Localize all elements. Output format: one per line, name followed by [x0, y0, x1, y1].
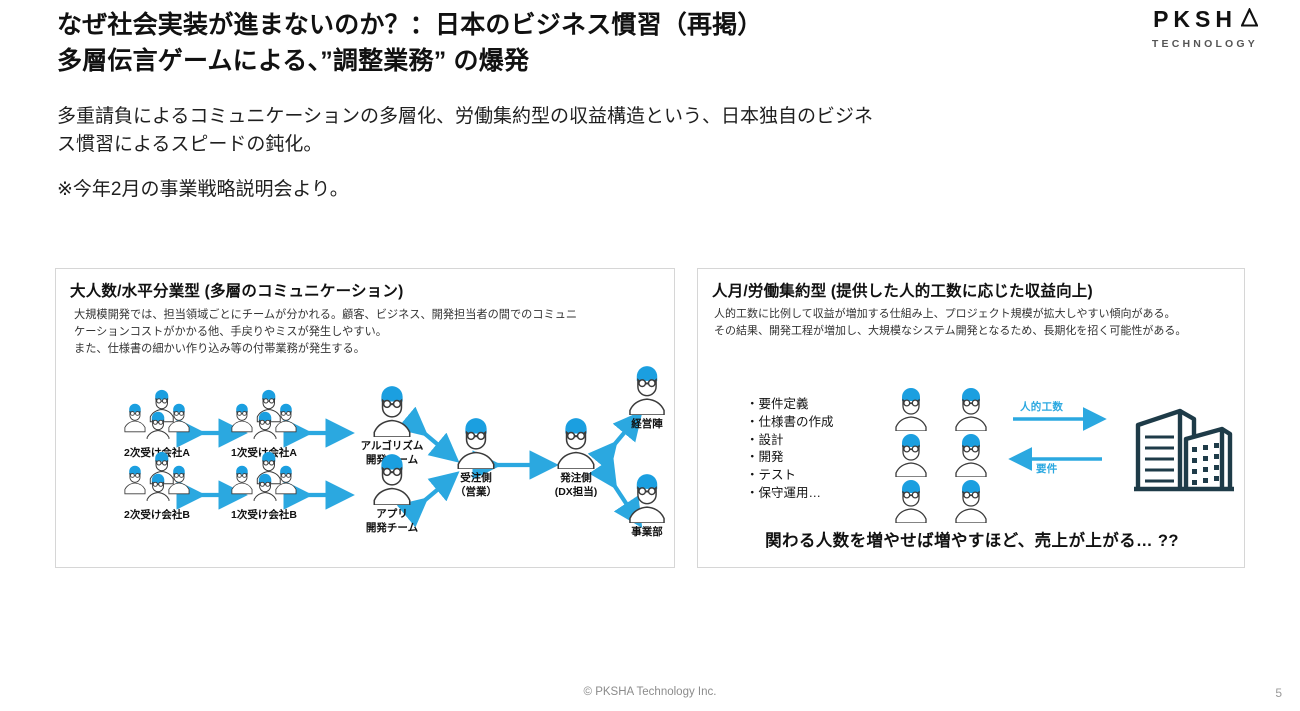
node-label: 経営陣	[616, 418, 678, 432]
person-icon	[367, 453, 417, 505]
person-icon	[888, 479, 934, 523]
node-business-unit: 事業部	[616, 473, 678, 540]
node-label: アプリ 開発チーム	[356, 508, 428, 535]
person-icon	[948, 479, 994, 523]
person-icon	[888, 433, 934, 477]
node-label: 2次受け会社B	[114, 509, 200, 523]
node-client-dx: 発注側 (DX担当)	[536, 417, 616, 499]
logo-wordmark-text: PKSH	[1153, 8, 1237, 31]
left-diagram: 2次受け会社A 1次受け会社A	[56, 269, 676, 569]
node-2nd-vendor-a: 2次受け会社A	[114, 389, 200, 461]
panel-horizontal-division: 大人数/水平分業型 (多層のコミュニケーション) 大規模開発では、担当領域ごとに…	[55, 268, 675, 568]
person-icon	[948, 387, 994, 431]
person-icon	[367, 385, 417, 437]
process-step-list: ・要件定義 ・仕様書の作成 ・設計 ・開発 ・テスト ・保守運用…	[746, 396, 834, 503]
person-icon	[888, 387, 934, 431]
node-2nd-vendor-b: 2次受け会社B	[114, 451, 200, 523]
node-app-team: アプリ 開発チーム	[356, 453, 428, 535]
people-grid	[888, 387, 994, 523]
person-icon	[551, 417, 601, 469]
page-number: 5	[1275, 686, 1282, 700]
page-lede: 多重請負によるコミュニケーションの多層化、労働集約型の収益構造という、日本独自の…	[57, 103, 1242, 159]
logo-wordmark: PKSH	[1152, 8, 1258, 31]
node-vendor-sales: 受注側 （営業）	[439, 417, 513, 499]
person-icon	[451, 417, 501, 469]
person-icon	[623, 473, 671, 523]
person-icon	[623, 365, 671, 415]
people-group-icon	[114, 451, 200, 506]
pksha-logo: PKSH TECHNOLOGY	[1152, 8, 1258, 50]
people-group-icon	[221, 389, 307, 444]
node-1st-vendor-a: 1次受け会社A	[221, 389, 307, 461]
page-note: ※今年2月の事業戦略説明会より。	[57, 177, 349, 204]
building-icon	[1130, 397, 1238, 502]
node-label: 発注側 (DX担当)	[536, 472, 616, 499]
person-icon	[948, 433, 994, 477]
node-1st-vendor-b: 1次受け会社B	[221, 451, 307, 523]
right-diagram: ・要件定義 ・仕様書の作成 ・設計 ・開発 ・テスト ・保守運用… 人的工数 要…	[698, 269, 1246, 569]
panel-labor-intensive: 人月/労働集約型 (提供した人的工数に応じた収益向上) 人的工数に比例して収益が…	[697, 268, 1245, 568]
node-label: 1次受け会社B	[221, 509, 307, 523]
footer-copyright: © PKSHA Technology Inc.	[0, 686, 1300, 698]
logo-subtitle: TECHNOLOGY	[1152, 38, 1258, 50]
slide: PKSH TECHNOLOGY なぜ社会実装が進まないのか？：日本のビジネス慣習…	[0, 0, 1300, 711]
punchline-text: 関わる人数を増やせば増やすほど、売上が上がる… ??	[698, 527, 1246, 551]
people-group-icon	[114, 389, 200, 444]
page-title: なぜ社会実装が進まないのか？：日本のビジネス慣習（再掲） 多層伝言ゲームによる、…	[57, 8, 763, 79]
arrow-label-manhours: 人的工数	[1020, 399, 1063, 414]
node-label: 事業部	[616, 526, 678, 540]
node-management: 経営陣	[616, 365, 678, 432]
node-label: 受注側 （営業）	[439, 472, 513, 499]
logo-triangle-a-icon	[1241, 8, 1258, 31]
arrow-label-requirements: 要件	[1036, 461, 1058, 476]
people-group-icon	[221, 451, 307, 506]
